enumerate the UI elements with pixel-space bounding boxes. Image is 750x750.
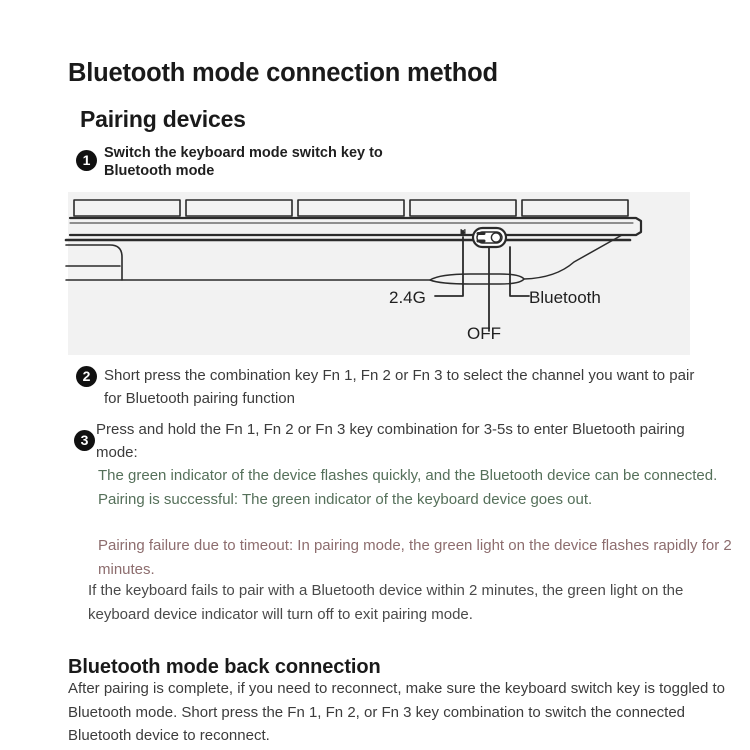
section-heading-pairing-devices: Pairing devices	[80, 106, 246, 133]
note-pairing-success: The green indicator of the device flashe…	[98, 464, 738, 511]
step-text-3: Press and hold the Fn 1, Fn 2 or Fn 3 ke…	[96, 418, 710, 464]
step-badge-2: 2	[76, 366, 97, 387]
keyboard-left-bezel	[66, 245, 122, 280]
note-pairing-failure: Pairing failure due to timeout: In pairi…	[98, 534, 738, 581]
page-root: Bluetooth mode connection method Pairing…	[0, 0, 750, 750]
step-badge-3: 3	[74, 430, 95, 451]
bluetooth-marker-icon	[461, 230, 465, 236]
keyboard-side-view-illustration	[0, 188, 750, 360]
page-title: Bluetooth mode connection method	[68, 59, 498, 88]
leader-line-bluetooth	[510, 247, 529, 296]
keyboard-right-sweep	[524, 235, 622, 279]
keycaps-row	[74, 200, 628, 216]
step-badge-1: 1	[76, 150, 97, 171]
back-connection-paragraph: After pairing is complete, if you need t…	[68, 677, 738, 748]
step-text-1: Switch the keyboard mode switch key to B…	[104, 144, 404, 180]
diagram-label-24g: 2.4G	[389, 288, 426, 308]
keyboard-top-edge	[70, 218, 641, 235]
mode-switch	[473, 228, 506, 247]
section-heading-back-connection: Bluetooth mode back connection	[68, 656, 381, 679]
diagram-label-off: OFF	[467, 324, 501, 344]
step-text-2: Short press the combination key Fn 1, Fn…	[104, 364, 704, 410]
diagram-label-bluetooth: Bluetooth	[529, 288, 601, 308]
note-pairing-timeout: If the keyboard fails to pair with a Blu…	[88, 579, 743, 626]
leader-line-24g	[435, 237, 463, 296]
